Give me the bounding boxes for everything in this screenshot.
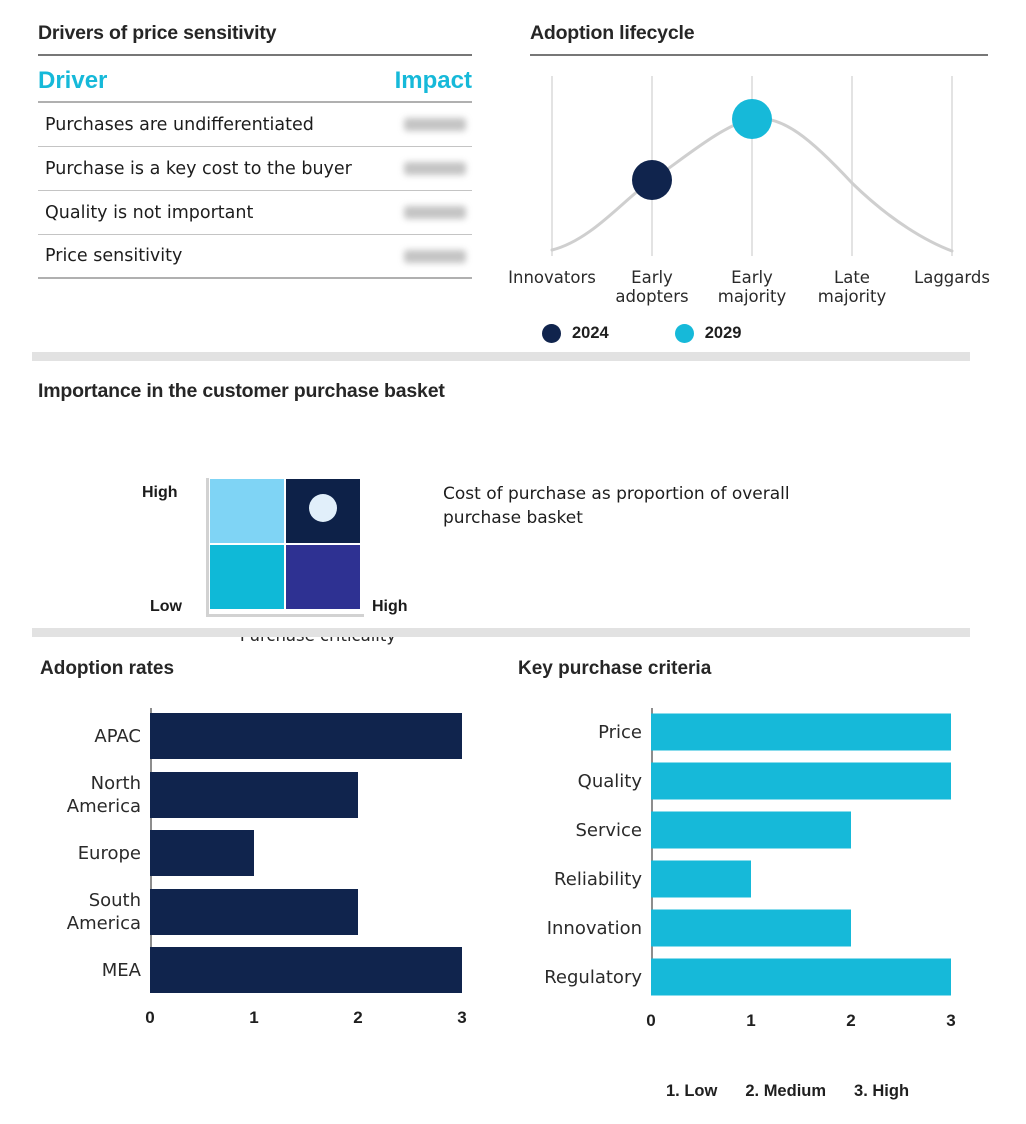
lifecycle-plot bbox=[530, 70, 988, 266]
bar-row-service[interactable]: Service bbox=[518, 806, 988, 854]
bar-label-quality: Quality bbox=[518, 770, 651, 793]
matrix-x-high-label: High bbox=[372, 598, 408, 616]
bar-label-reliability: Reliability bbox=[518, 868, 651, 891]
x-tick-innovators: Innovators bbox=[508, 268, 596, 287]
lifecycle-marker-2029 bbox=[732, 99, 772, 139]
table-row[interactable]: Purchase is a key cost to the buyer bbox=[38, 147, 472, 191]
bar-label-south-america: South America bbox=[40, 889, 150, 935]
adoption-bar-rows: APAC North America Europe bbox=[40, 708, 500, 998]
basket-panel: Importance in the customer purchase bask… bbox=[38, 380, 988, 403]
x-tick-early-adopters: Early adopters bbox=[615, 268, 688, 306]
bar-row-price[interactable]: Price bbox=[518, 708, 988, 756]
cell-driver: Purchase is a key cost to the buyer bbox=[45, 159, 352, 179]
bar-label-regulatory: Regulatory bbox=[518, 966, 651, 989]
legend-label-2029: 2029 bbox=[705, 324, 742, 343]
criteria-x-ticks: 0 1 2 3 bbox=[651, 1011, 951, 1037]
criteria-plot: Price Quality Service bbox=[518, 708, 988, 1008]
lifecycle-legend: 2024 2029 bbox=[542, 324, 988, 343]
lifecycle-title-rule bbox=[530, 54, 988, 56]
quadrant-bottom-left[interactable] bbox=[210, 545, 284, 609]
x-tick-1: 1 bbox=[249, 1008, 258, 1028]
bar-service bbox=[651, 812, 851, 849]
bar-label-apac: APAC bbox=[40, 725, 150, 748]
legend-item-2024[interactable]: 2024 bbox=[542, 324, 609, 343]
cell-impact-redacted bbox=[404, 250, 466, 263]
adoption-x-ticks: 0 1 2 3 bbox=[150, 1008, 462, 1034]
bar-regulatory bbox=[651, 959, 951, 996]
table-row[interactable]: Purchases are undifferentiated bbox=[38, 103, 472, 147]
basket-description: Cost of purchase as proportion of overal… bbox=[443, 482, 803, 530]
drivers-title-rule bbox=[38, 54, 472, 56]
basket-title: Importance in the customer purchase bask… bbox=[38, 380, 988, 403]
bar-row-regulatory[interactable]: Regulatory bbox=[518, 953, 988, 1001]
drivers-title: Drivers of price sensitivity bbox=[38, 22, 472, 45]
column-header-driver: Driver bbox=[38, 67, 107, 95]
bar-quality bbox=[651, 763, 951, 800]
adoption-rates-plot: APAC North America Europe bbox=[40, 708, 500, 1008]
bar-label-price: Price bbox=[518, 721, 651, 744]
bar-row-mea[interactable]: MEA bbox=[40, 942, 500, 998]
matrix-quadrant-grid bbox=[210, 479, 360, 609]
legend-dot-icon bbox=[542, 324, 561, 343]
matrix-y-axis-line bbox=[206, 478, 209, 616]
bar-apac bbox=[150, 713, 462, 759]
x-tick-0: 0 bbox=[646, 1011, 655, 1031]
footnote-medium: 2. Medium bbox=[745, 1082, 826, 1101]
bar-mea bbox=[150, 947, 462, 993]
bar-reliability bbox=[651, 861, 751, 898]
basket-matrix: High Low High Purchase criticality Cost … bbox=[38, 426, 988, 626]
x-tick-laggards: Laggards bbox=[914, 268, 990, 287]
adoption-rates-title: Adoption rates bbox=[40, 658, 500, 680]
bar-label-innovation: Innovation bbox=[518, 917, 651, 940]
matrix-y-low-label: Low bbox=[150, 598, 182, 616]
cell-driver: Quality is not important bbox=[45, 203, 253, 223]
x-tick-3: 3 bbox=[946, 1011, 955, 1031]
section-divider-2 bbox=[32, 628, 970, 637]
bar-row-europe[interactable]: Europe bbox=[40, 825, 500, 881]
column-header-impact: Impact bbox=[395, 67, 472, 95]
footnote-high: 3. High bbox=[854, 1082, 909, 1101]
criteria-scale-footnote: 1. Low 2. Medium 3. High bbox=[666, 1082, 909, 1101]
criteria-title: Key purchase criteria bbox=[518, 658, 988, 680]
table-row[interactable]: Price sensitivity bbox=[38, 235, 472, 279]
legend-dot-icon bbox=[675, 324, 694, 343]
lifecycle-x-axis: Innovators Early adopters Early majority… bbox=[530, 268, 988, 314]
x-tick-early-majority: Early majority bbox=[718, 268, 786, 306]
cell-impact-redacted bbox=[404, 162, 466, 175]
position-marker-icon bbox=[309, 494, 337, 522]
lifecycle-title: Adoption lifecycle bbox=[530, 22, 988, 45]
x-tick-2: 2 bbox=[353, 1008, 362, 1028]
footnote-low: 1. Low bbox=[666, 1082, 717, 1101]
bar-label-service: Service bbox=[518, 819, 651, 842]
quadrant-top-left[interactable] bbox=[210, 479, 284, 543]
quadrant-top-right[interactable] bbox=[286, 479, 360, 543]
criteria-bar-rows: Price Quality Service bbox=[518, 708, 988, 1001]
quadrant-bottom-right[interactable] bbox=[286, 545, 360, 609]
drivers-table-header: Driver Impact bbox=[38, 67, 472, 101]
x-tick-2: 2 bbox=[846, 1011, 855, 1031]
x-tick-0: 0 bbox=[145, 1008, 154, 1028]
drivers-panel: Drivers of price sensitivity Driver Impa… bbox=[38, 22, 472, 279]
matrix-y-high-label: High bbox=[142, 484, 178, 502]
matrix-x-axis-line bbox=[206, 614, 364, 617]
section-divider-1 bbox=[32, 352, 970, 361]
bar-row-innovation[interactable]: Innovation bbox=[518, 904, 988, 952]
lifecycle-curve-svg bbox=[530, 70, 988, 266]
bar-row-apac[interactable]: APAC bbox=[40, 708, 500, 764]
cell-driver: Price sensitivity bbox=[45, 246, 182, 266]
bar-label-mea: MEA bbox=[40, 959, 150, 982]
lifecycle-marker-2024 bbox=[632, 160, 672, 200]
x-tick-3: 3 bbox=[457, 1008, 466, 1028]
bar-row-quality[interactable]: Quality bbox=[518, 757, 988, 805]
bar-label-europe: Europe bbox=[40, 842, 150, 865]
bar-price bbox=[651, 714, 951, 751]
bar-label-north-america: North America bbox=[40, 772, 150, 818]
bar-south-america bbox=[150, 889, 358, 935]
table-row[interactable]: Quality is not important bbox=[38, 191, 472, 235]
bar-europe bbox=[150, 830, 254, 876]
cell-impact-redacted bbox=[404, 118, 466, 131]
bar-row-south-america[interactable]: South America bbox=[40, 884, 500, 940]
legend-label-2024: 2024 bbox=[572, 324, 609, 343]
legend-item-2029[interactable]: 2029 bbox=[675, 324, 742, 343]
cell-impact-redacted bbox=[404, 206, 466, 219]
cell-driver: Purchases are undifferentiated bbox=[45, 115, 314, 135]
bar-north-america bbox=[150, 772, 358, 818]
bar-row-north-america[interactable]: North America bbox=[40, 767, 500, 823]
slide-canvas: Drivers of price sensitivity Driver Impa… bbox=[0, 0, 1026, 1124]
x-tick-late-majority: Late majority bbox=[818, 268, 886, 306]
adoption-rates-panel: Adoption rates APAC North America bbox=[40, 658, 500, 1008]
bar-innovation bbox=[651, 910, 851, 947]
bar-row-reliability[interactable]: Reliability bbox=[518, 855, 988, 903]
lifecycle-panel: Adoption lifecycle Innovators Early adop… bbox=[530, 22, 988, 343]
x-tick-1: 1 bbox=[746, 1011, 755, 1031]
key-purchase-criteria-panel: Key purchase criteria Price Quality bbox=[518, 658, 988, 1008]
drivers-table: Driver Impact Purchases are undifferenti… bbox=[38, 67, 472, 279]
